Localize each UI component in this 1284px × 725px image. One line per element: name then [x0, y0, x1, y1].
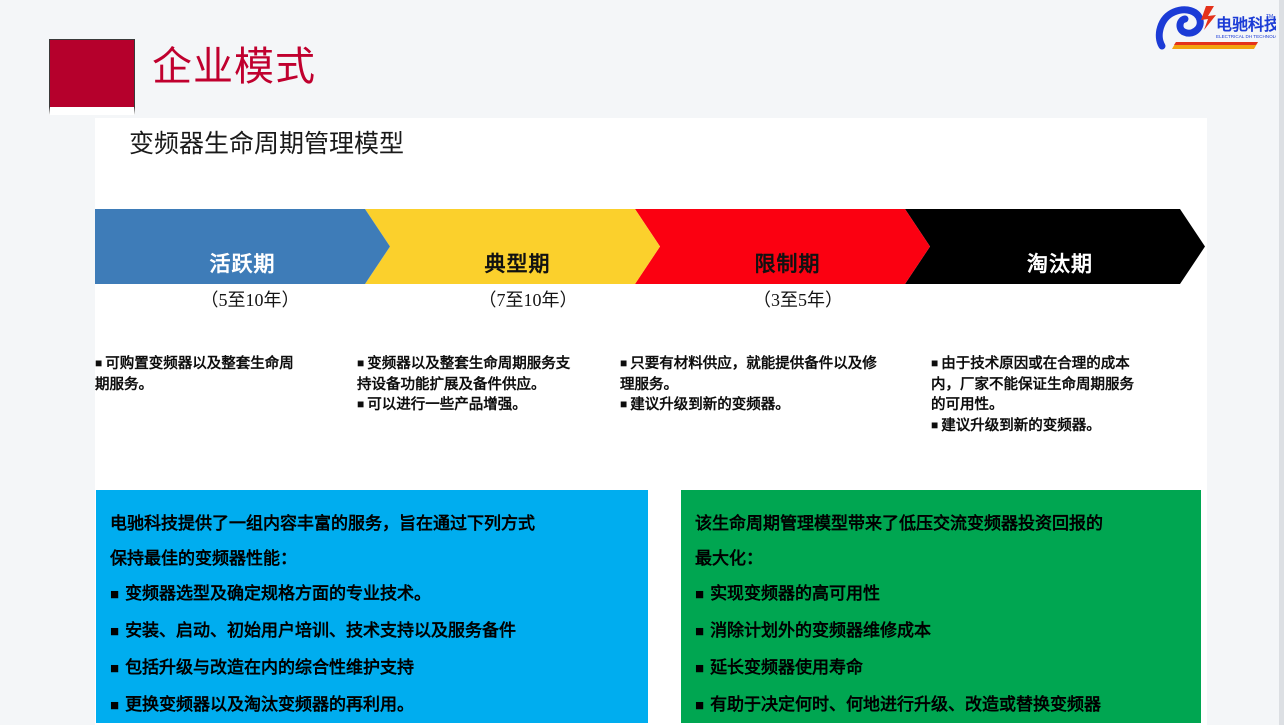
- bullet-square-icon: ■: [931, 418, 938, 432]
- lifecycle-stage-years: （5至10年）: [105, 286, 395, 312]
- bullet-square-icon: ■: [110, 624, 119, 640]
- page-edge-strip: [1279, 0, 1284, 725]
- bullet-square-icon: ■: [110, 587, 119, 603]
- title-accent-block: [49, 39, 135, 115]
- company-logo: 电驰科技 ELECTRICAL DH TECHNOLOGY TM: [1154, 2, 1276, 52]
- lifecycle-stage-label: 活跃期: [95, 248, 390, 278]
- column-active: ■可购置变频器以及整套生命周期服务。: [95, 354, 357, 395]
- info-line: 最大化：: [695, 541, 1187, 576]
- bullet-square-icon: ■: [695, 624, 704, 640]
- page-title: 企业模式: [152, 44, 316, 90]
- bullet-line: 理服务。: [620, 375, 930, 396]
- info-line: ■有助于决定何时、何地进行升级、改造或替换变频器: [695, 687, 1187, 724]
- info-line: ■包括升级与改造在内的综合性维护支持: [110, 650, 634, 687]
- bullet-line: ■建议升级到新的变频器。: [620, 395, 930, 416]
- bullet-line: ■可以进行一些产品增强。: [357, 395, 625, 416]
- info-line: 电驰科技提供了一组内容丰富的服务，旨在通过下列方式: [110, 506, 634, 541]
- info-line: ■实现变频器的高可用性: [695, 576, 1187, 613]
- bullet-square-icon: ■: [695, 661, 704, 677]
- column-obsolete: ■由于技术原因或在合理的成本内，厂家不能保证生命周期服务的可用性。■建议升级到新…: [931, 354, 1199, 436]
- bullet-square-icon: ■: [95, 356, 102, 370]
- bullet-line: 持设备功能扩展及备件供应。: [357, 375, 625, 396]
- bullet-square-icon: ■: [357, 356, 364, 370]
- bullet-square-icon: ■: [695, 698, 704, 714]
- bullet-square-icon: ■: [695, 587, 704, 603]
- bullet-square-icon: ■: [620, 397, 627, 411]
- content-panel: 变频器生命周期管理模型 变频器生命周期阶段： 活跃期典型期限制期淘汰期 （5至1…: [95, 118, 1207, 725]
- lifecycle-stage-label: 限制期: [635, 248, 930, 278]
- lifecycle-year-labels: （5至10年）（7至10年）（3至5年）: [95, 286, 1205, 314]
- lifecycle-chevron-band: 变频器生命周期阶段： 活跃期典型期限制期淘汰期: [95, 209, 1205, 284]
- info-line: 保持最佳的变频器性能：: [110, 541, 634, 576]
- info-line: ■消除计划外的变频器维修成本: [695, 613, 1187, 650]
- benefits-box: 该生命周期管理模型带来了低压交流变频器投资回报的最大化：■实现变频器的高可用性■…: [681, 490, 1201, 723]
- lifecycle-stage-2[interactable]: 典型期: [365, 209, 660, 284]
- bullet-line: 内，厂家不能保证生命周期服务: [931, 375, 1199, 396]
- logo-en-text: ELECTRICAL DH TECHNOLOGY: [1216, 34, 1276, 39]
- logo-tm-text: TM: [1266, 14, 1273, 20]
- bullet-line: ■由于技术原因或在合理的成本: [931, 354, 1199, 375]
- info-line: ■安装、启动、初始用户培训、技术支持以及服务备件: [110, 613, 634, 650]
- bullet-line: ■可购置变频器以及整套生命周: [95, 354, 357, 375]
- phase-bullet-columns: ■可购置变频器以及整套生命周期服务。■变频器以及整套生命周期服务支持设备功能扩展…: [95, 354, 1205, 474]
- bullet-square-icon: ■: [620, 356, 627, 370]
- bullet-line: ■变频器以及整套生命周期服务支: [357, 354, 625, 375]
- info-line: ■延长变频器使用寿命: [695, 650, 1187, 687]
- lifecycle-stage-4[interactable]: 淘汰期: [905, 209, 1205, 284]
- bullet-line: ■建议升级到新的变频器。: [931, 416, 1199, 437]
- services-box: 电驰科技提供了一组内容丰富的服务，旨在通过下列方式保持最佳的变频器性能：■变频器…: [96, 490, 648, 723]
- column-typical: ■变频器以及整套生命周期服务支持设备功能扩展及备件供应。■可以进行一些产品增强。: [357, 354, 625, 416]
- info-line: ■更换变频器以及淘汰变频器的再利用。: [110, 687, 634, 724]
- column-limited: ■只要有材料供应，就能提供备件以及修理服务。■建议升级到新的变频器。: [620, 354, 930, 416]
- bullet-square-icon: ■: [110, 698, 119, 714]
- bullet-line: 期服务。: [95, 375, 357, 396]
- slide-canvas: 企业模式 电驰科技 ELECTRICAL DH TECHNOLOGY TM 变频…: [0, 0, 1284, 725]
- bullet-line: 的可用性。: [931, 395, 1199, 416]
- bullet-square-icon: ■: [110, 661, 119, 677]
- panel-heading: 变频器生命周期管理模型: [129, 124, 404, 160]
- lifecycle-stage-label: 淘汰期: [905, 248, 1205, 278]
- info-line: 该生命周期管理模型带来了低压交流变频器投资回报的: [695, 506, 1187, 541]
- lifecycle-stage-label: 典型期: [365, 248, 660, 278]
- lifecycle-stage-years: （7至10年）: [383, 286, 673, 312]
- bullet-line: ■只要有材料供应，就能提供备件以及修: [620, 354, 930, 375]
- lifecycle-stage-3[interactable]: 限制期: [635, 209, 930, 284]
- bullet-square-icon: ■: [357, 397, 364, 411]
- info-line: ■变频器选型及确定规格方面的专业技术。: [110, 576, 634, 613]
- lifecycle-stage-1[interactable]: 活跃期: [95, 209, 390, 284]
- bullet-square-icon: ■: [931, 356, 938, 370]
- logo-mark: 电驰科技 ELECTRICAL DH TECHNOLOGY TM: [1154, 2, 1276, 52]
- lifecycle-stage-years: （3至5年）: [653, 286, 943, 312]
